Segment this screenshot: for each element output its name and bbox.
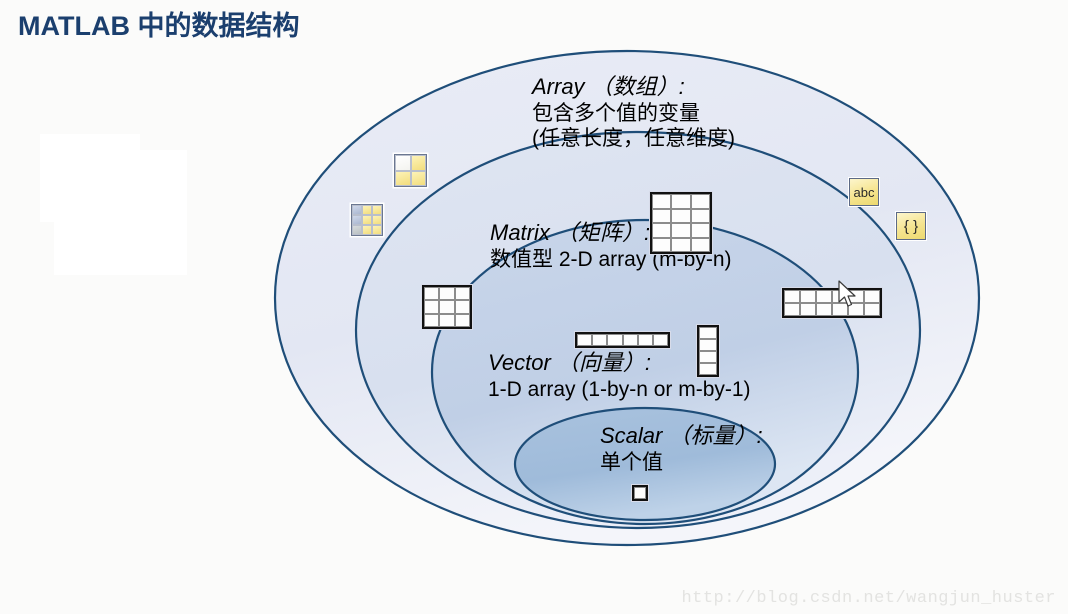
scalar-1x1-icon [632, 485, 648, 501]
label-array: Array （数组）: 包含多个值的变量 (任意长度，任意维度) [532, 74, 735, 152]
matrix-2x6-grid-icon [782, 288, 882, 318]
label-array-line-2: (任意长度，任意维度) [532, 126, 735, 152]
label-scalar-line-1: 单个值 [600, 450, 763, 476]
matrix-4x3-grid-icon [650, 192, 712, 254]
mixed-3x3-grid-icon [351, 204, 383, 236]
label-scalar: Scalar （标量）: 单个值 [600, 423, 763, 475]
row-vector-1x6-icon [575, 332, 670, 348]
char-array-tile-icon: abc [849, 178, 879, 206]
label-scalar-heading: Scalar （标量）: [600, 423, 763, 450]
matrix-3x3-grid-icon [422, 285, 472, 329]
label-array-line-1: 包含多个值的变量 [532, 101, 735, 127]
label-vector-line-1: 1-D array (1-by-n or m-by-1) [488, 377, 751, 403]
logical-2x2-grid-icon [394, 154, 427, 187]
watermark-url: http://blog.csdn.net/wangjun_huster [681, 589, 1056, 608]
cell-array-tile-icon: { } [896, 212, 926, 240]
cell-array-tile-label: { } [904, 218, 918, 235]
char-array-tile-label: abc [854, 185, 875, 200]
label-array-heading: Array （数组）: [532, 74, 735, 101]
column-vector-4x1-icon [697, 325, 719, 377]
